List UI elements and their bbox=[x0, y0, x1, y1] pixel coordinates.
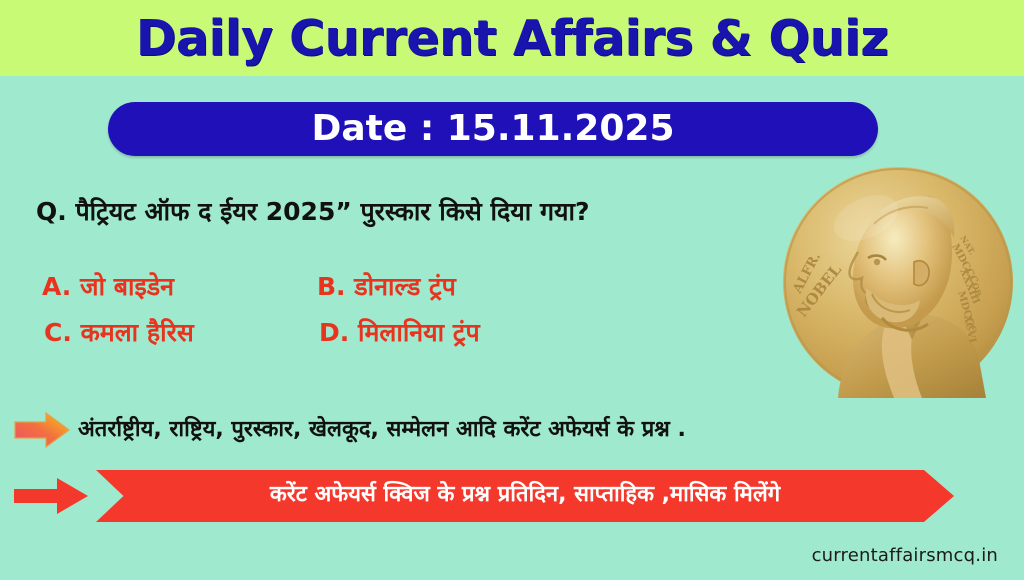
right-arrow-gradient-icon bbox=[14, 411, 70, 449]
option-d-label: मिलानिया ट्रंप bbox=[358, 318, 480, 347]
poster-canvas: Daily Current Affairs & Quiz Date : 15.1… bbox=[0, 0, 1024, 580]
option-d[interactable]: D. मिलानिया ट्रंप bbox=[319, 319, 480, 347]
info-line: अंतर्राष्ट्रीय, राष्ट्रिय, पुरस्कार, खेल… bbox=[14, 408, 1014, 452]
date-banner: Date : 15.11.2025 bbox=[108, 102, 878, 156]
quiz-question: Q. पैट्रियट ऑफ द ईयर 2025” पुरस्कार किसे… bbox=[36, 196, 776, 227]
promo-banner-text: करेंट अफेयर्स क्विज के प्रश्न प्रतिदिन, … bbox=[270, 482, 780, 510]
option-c[interactable]: C. कमला हैरिस bbox=[42, 319, 319, 347]
options-row-2: C. कमला हैरिस D. मिलानिया ट्रंप bbox=[42, 319, 602, 365]
header-band: Daily Current Affairs & Quiz bbox=[0, 0, 1024, 76]
date-text: Date : 15.11.2025 bbox=[311, 111, 674, 147]
nobel-prize-medal-icon: ALFR. NOBEL NAT. MDCCC XXXIII OB. MDCCC … bbox=[782, 166, 1014, 398]
option-a[interactable]: A. जो बाइडेन bbox=[42, 273, 317, 301]
promo-banner-row: करेंट अफेयर्स क्विज के प्रश्न प्रतिदिन, … bbox=[8, 470, 1008, 522]
page-title: Daily Current Affairs & Quiz bbox=[136, 14, 889, 63]
option-b-key: B. bbox=[317, 272, 346, 301]
option-a-label: जो बाइडेन bbox=[80, 272, 174, 301]
promo-banner: करेंट अफेयर्स क्विज के प्रश्न प्रतिदिन, … bbox=[96, 470, 954, 522]
info-line-text: अंतर्राष्ट्रीय, राष्ट्रिय, पुरस्कार, खेल… bbox=[78, 417, 686, 443]
option-c-key: C. bbox=[44, 318, 72, 347]
option-b-label: डोनाल्ड ट्रंप bbox=[354, 272, 456, 301]
option-b[interactable]: B. डोनाल्ड ट्रंप bbox=[317, 273, 456, 301]
options-row-1: A. जो बाइडेन B. डोनाल्ड ट्रंप bbox=[42, 273, 602, 319]
quiz-options: A. जो बाइडेन B. डोनाल्ड ट्रंप C. कमला है… bbox=[42, 273, 602, 365]
website-footer: currentaffairsmcq.in bbox=[812, 545, 998, 566]
right-arrow-red-icon bbox=[12, 477, 90, 515]
option-c-label: कमला हैरिस bbox=[81, 318, 194, 347]
option-a-key: A. bbox=[42, 272, 71, 301]
option-d-key: D. bbox=[319, 318, 349, 347]
